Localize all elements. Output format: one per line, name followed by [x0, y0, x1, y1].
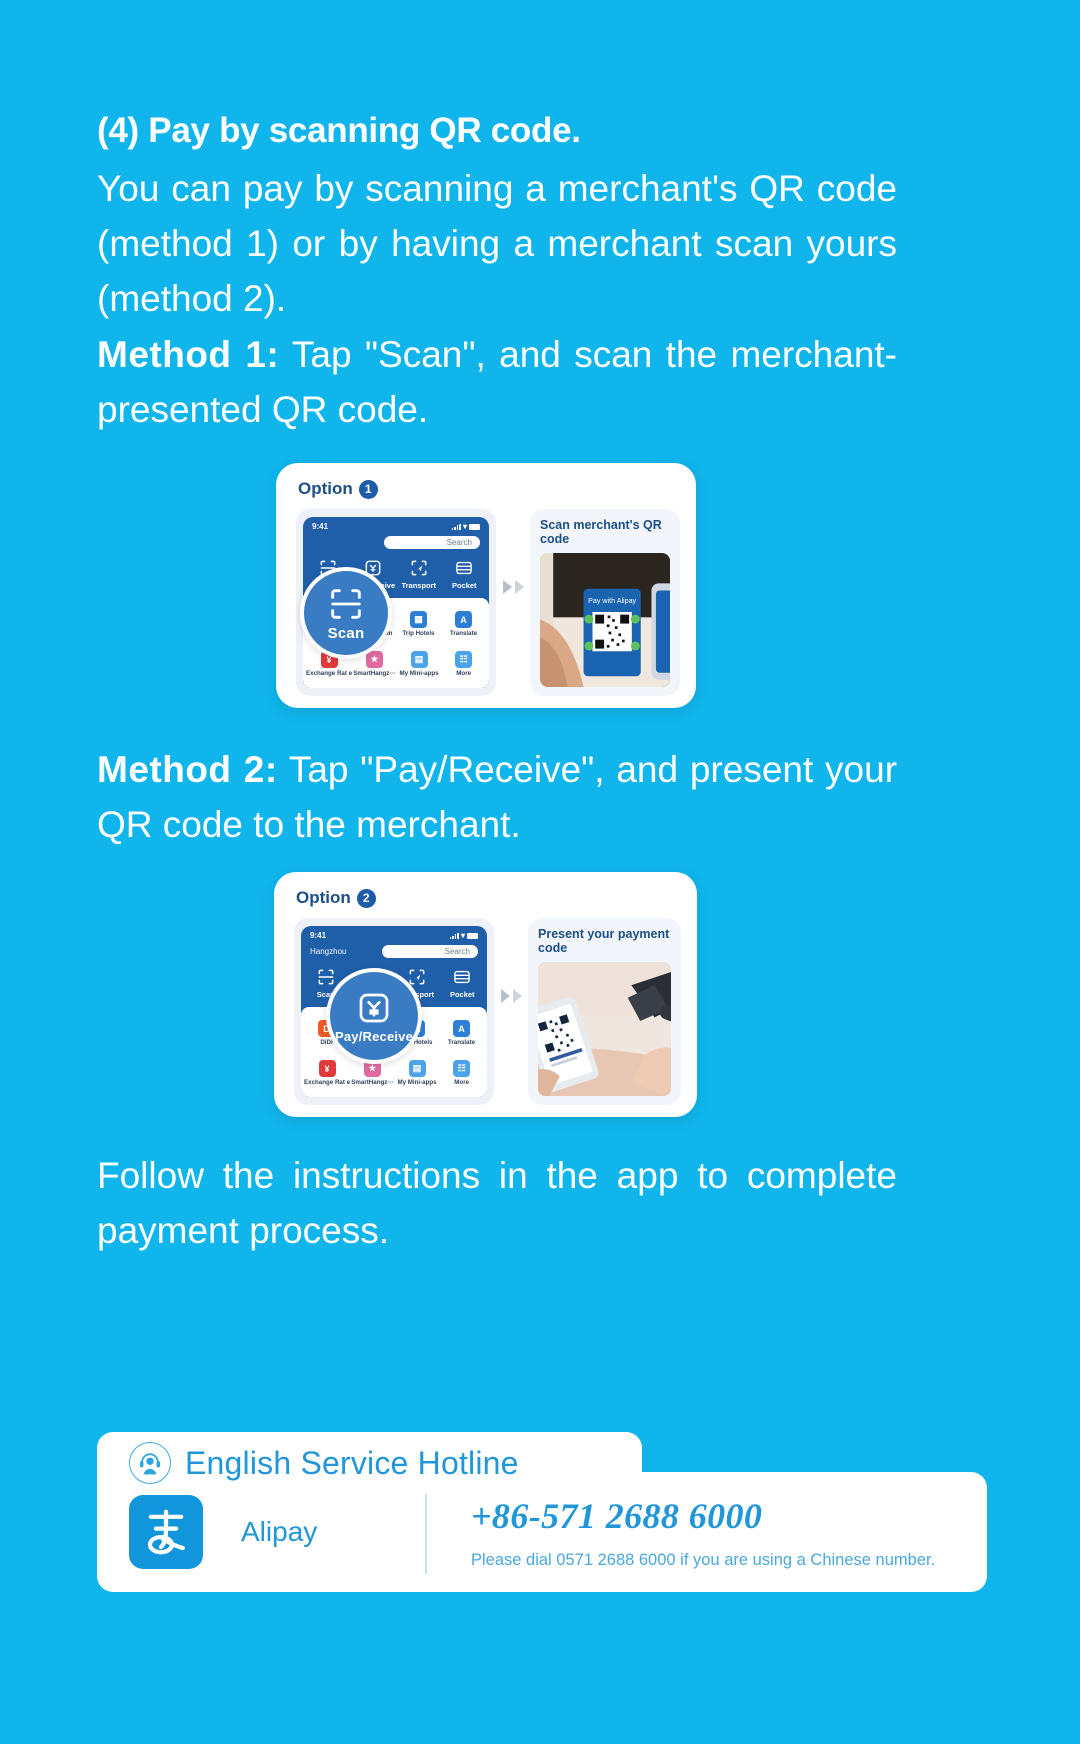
app-label: Exchange Rat e	[304, 1079, 350, 1086]
more-grid-icon: ☷	[453, 1060, 470, 1077]
photo-scan-merchant-qr: Pay with Alipay	[540, 553, 670, 687]
hotline-number[interactable]: +86-571 2688 6000	[471, 1495, 935, 1537]
phone-mockup-2: 9:41 ▾ Hangzhou Search	[294, 918, 494, 1105]
quick-action-label: Transport	[401, 581, 436, 590]
method2-paragraph: Method 2: Tap "Pay/Receive", and present…	[97, 742, 897, 852]
signal-icon	[450, 932, 459, 939]
search-input[interactable]: Search	[382, 945, 478, 958]
flow-arrows-2	[494, 886, 528, 1105]
highlight-bubble-scan[interactable]: Scan	[300, 567, 392, 659]
yen-code-icon	[354, 988, 394, 1028]
scan-frame-icon	[316, 967, 336, 987]
phone-search-row: Hangzhou Search	[301, 943, 487, 963]
wifi-icon: ▾	[463, 522, 467, 531]
alipay-logo-icon	[129, 1495, 203, 1569]
page-root: (4) Pay by scanning QR code. You can pay…	[0, 0, 1080, 1744]
highlight-label: Pay/Receive	[335, 1029, 413, 1044]
quick-action-pocket[interactable]: Pocket	[440, 967, 486, 999]
app-my-mini-apps[interactable]: ▤ My Mini-apps	[395, 1060, 440, 1086]
more-grid-icon: ☷	[455, 651, 472, 668]
arrow-icon	[503, 580, 512, 594]
brand-label: Alipay	[241, 1516, 421, 1548]
method2-copy: Method 2: Tap "Pay/Receive", and present…	[97, 742, 987, 852]
battery-icon	[467, 933, 478, 939]
app-my-mini-apps[interactable]: ▤ My Mini-apps	[397, 651, 442, 677]
photo-present-payment-code	[538, 962, 671, 1096]
method2-label: Method 2:	[97, 749, 278, 790]
battery-icon	[469, 524, 480, 530]
quick-action-pocket[interactable]: Pocket	[442, 558, 488, 590]
highlight-bubble-pay-receive[interactable]: Pay/Receive	[326, 968, 422, 1064]
option-label-text: Option	[296, 888, 351, 908]
transport-icon	[409, 558, 429, 578]
app-trip-hotels[interactable]: ▦ Trip Hotels	[396, 611, 441, 637]
translate-icon: A	[455, 611, 472, 628]
result-panel-2: Present your payment code	[528, 918, 681, 1105]
search-input[interactable]: Search	[384, 536, 480, 549]
instruction-copy: (4) Pay by scanning QR code. You can pay…	[97, 108, 987, 437]
wifi-icon: ▾	[461, 931, 465, 940]
app-translate[interactable]: A Translate	[441, 611, 486, 637]
phone-mockup-1: 9:41 ▾ Search	[296, 509, 496, 696]
miniapps-icon: ▤	[409, 1060, 426, 1077]
status-time: 9:41	[310, 931, 326, 940]
option-number-badge: 2	[357, 889, 376, 908]
hotline-details: +86-571 2688 6000 Please dial 0571 2688 …	[471, 1495, 935, 1570]
app-label: My Mini-apps	[397, 1079, 436, 1086]
quick-action-label: Pocket	[452, 581, 477, 590]
hotline-title: English Service Hotline	[185, 1445, 519, 1482]
highlight-label: Scan	[328, 625, 365, 642]
option-label-1: Option 1	[298, 479, 378, 499]
service-agent-icon	[129, 1442, 171, 1484]
hotline-card: Alipay +86-571 2688 6000 Please dial 057…	[97, 1432, 987, 1592]
app-label: Exchange Rat e	[306, 670, 352, 677]
app-label: SmartHangz···	[351, 1079, 393, 1086]
illustration-card-option1: Option 1 9:41 ▾ Sear	[276, 463, 696, 708]
intro-paragraph: You can pay by scanning a merchant's QR …	[97, 161, 897, 326]
miniapps-icon: ▤	[411, 651, 428, 668]
result-title: Scan merchant's QR code	[540, 518, 670, 546]
status-time: 9:41	[312, 522, 328, 531]
pocket-icon	[454, 558, 474, 578]
app-more[interactable]: ☷ More	[441, 651, 486, 677]
method1-paragraph: Method 1: Tap "Scan", and scan the merch…	[97, 327, 897, 437]
option-label-text: Option	[298, 479, 353, 499]
status-icons: ▾	[450, 931, 478, 940]
option-label-2: Option 2	[296, 888, 376, 908]
app-label: More	[454, 1079, 469, 1086]
app-label: My Mini-apps	[399, 670, 438, 677]
option-number-badge: 1	[359, 480, 378, 499]
result-title: Present your payment code	[538, 927, 671, 955]
app-label: More	[456, 670, 471, 677]
hotel-icon: ▦	[410, 611, 427, 628]
quick-action-label: Pocket	[450, 990, 475, 999]
signal-icon	[452, 523, 461, 530]
arrow-icon	[515, 580, 524, 594]
method1-label: Method 1:	[97, 334, 279, 375]
translate-icon: A	[453, 1020, 470, 1037]
location-label[interactable]: Hangzhou	[310, 947, 346, 956]
pocket-icon	[452, 967, 472, 987]
app-more[interactable]: ☷ More	[439, 1060, 484, 1086]
hotline-header-tab: English Service Hotline	[97, 1432, 642, 1494]
phone-search-row: Search	[303, 534, 489, 554]
arrow-icon	[513, 989, 522, 1003]
result-panel-1: Scan merchant's QR code Pay with Alipay	[530, 509, 680, 696]
smarthangzhou-icon: ★	[366, 651, 383, 668]
phone-statusbar: 9:41 ▾	[301, 926, 487, 943]
hotline-note: Please dial 0571 2688 6000 if you are us…	[471, 1551, 935, 1570]
closing-paragraph: Follow the instructions in the app to co…	[97, 1148, 897, 1258]
app-label: Trip Hotels	[403, 630, 435, 637]
exchange-icon: ¥	[319, 1060, 336, 1077]
page-title: (4) Pay by scanning QR code.	[97, 108, 987, 154]
app-translate[interactable]: A Translate	[439, 1020, 484, 1046]
app-row: ¥ Exchange Rat e ★ SmartHangz··· ▤ My Mi…	[304, 1060, 484, 1086]
scan-frame-icon	[326, 584, 366, 624]
flow-arrows-1	[496, 477, 530, 696]
phone-statusbar: 9:41 ▾	[303, 517, 489, 534]
app-label: Translate	[450, 630, 477, 637]
closing-copy: Follow the instructions in the app to co…	[97, 1148, 987, 1258]
vertical-divider	[425, 1490, 427, 1574]
svg-text:Pay with Alipay: Pay with Alipay	[588, 597, 636, 605]
illustration-card-option2: Option 2 9:41 ▾ Hangzhou Sea	[274, 872, 697, 1117]
arrow-icon	[501, 989, 510, 1003]
quick-action-transport[interactable]: Transport	[396, 558, 442, 590]
status-icons: ▾	[452, 522, 480, 531]
app-exchange-rate[interactable]: ¥ Exchange Rat e	[304, 1060, 350, 1086]
app-label: SmartHangz···	[353, 670, 395, 677]
app-label: Translate	[448, 1039, 475, 1046]
app-label: DiDi	[320, 1039, 332, 1046]
